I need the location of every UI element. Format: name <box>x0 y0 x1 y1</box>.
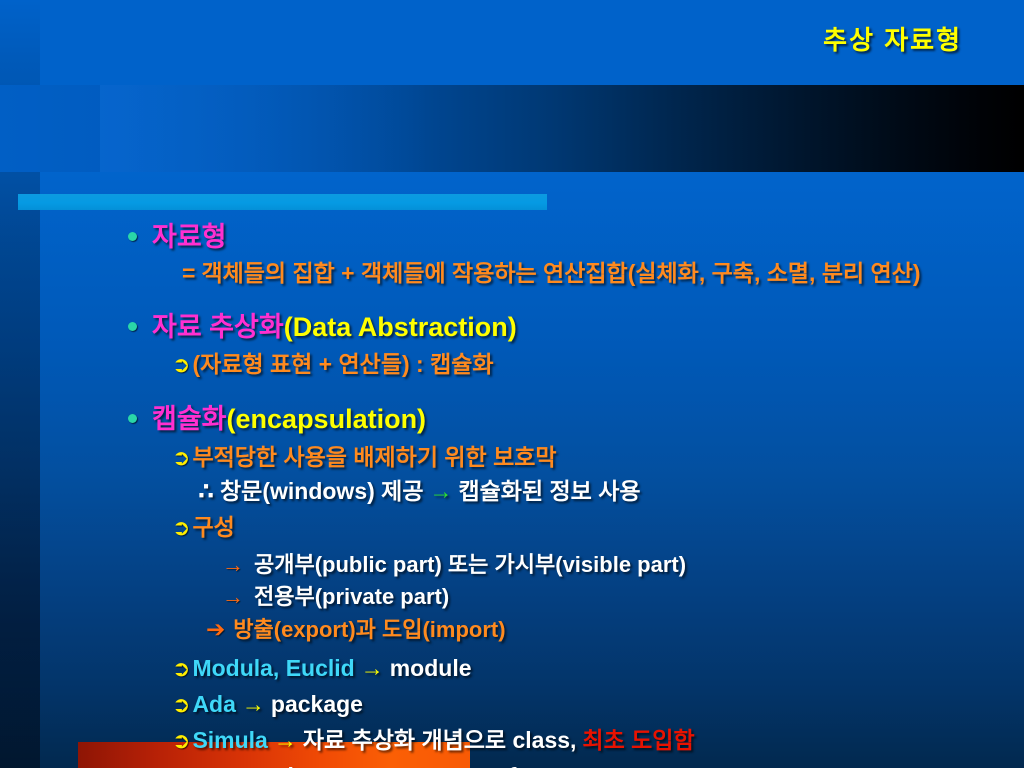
language-result-secondary: form <box>509 763 560 768</box>
crescent-arrow-bullet-icon: ➲ <box>172 726 190 756</box>
slide-canvas: 추상 자료형 자료형 =객체들의 집합 + 객체들에 작용하는 연산집합(실체화… <box>0 0 1024 768</box>
arrow-right-icon: → <box>246 763 269 768</box>
data-abstraction-label-ko: 자료 추상화 <box>152 312 284 342</box>
language-name: Ada <box>192 691 235 717</box>
bullet-item-datatype: 자료형 <box>128 220 1024 254</box>
bullet-dot-icon <box>128 322 137 331</box>
composition-item-public-text: 공개부(public part) 또는 가시부(visible part) <box>254 552 686 577</box>
header-gradient-highlight <box>100 85 430 172</box>
encapsulation-note-right: 캡슐화된 정보 사용 <box>458 478 640 504</box>
arrow-right-icon: → <box>222 552 244 577</box>
arrow-right-icon: → <box>274 727 297 753</box>
language-item-modula: ➲Modula, Euclid→module <box>172 653 1024 684</box>
encapsulation-sub-shield-line: ➲부적당한 사용을 배제하기 위한 보호막 <box>172 442 1024 473</box>
crescent-arrow-bullet-icon: ➲ <box>172 654 190 684</box>
language-name: Modula, Euclid <box>192 655 354 681</box>
encapsulation-shield-text: 부적당한 사용을 배제하기 위한 보호막 <box>192 444 556 470</box>
arrow-right-bold-icon: ➔ <box>206 616 225 642</box>
encapsulation-label-ko: 캡슐화 <box>152 404 227 434</box>
crescent-arrow-bullet-icon: ➲ <box>172 690 190 720</box>
language-name: CLU <box>192 763 239 768</box>
language-result: module <box>390 655 472 681</box>
crescent-arrow-bullet-icon: ➲ <box>172 443 190 473</box>
language-highlight: 최초 도입함 <box>582 727 694 753</box>
language-result: 자료 추상화 개념으로 class, <box>303 727 577 753</box>
data-abstraction-label-en: (Data Abstraction) <box>284 312 517 342</box>
slide-content: 자료형 =객체들의 집합 + 객체들에 작용하는 연산집합(실체화, 구축, 소… <box>0 220 1024 768</box>
crescent-arrow-bullet-icon: ➲ <box>172 513 190 543</box>
bullet-dot-icon <box>128 232 137 241</box>
language-item-ada: ➲Ada→package <box>172 689 1024 720</box>
datatype-definition-line: =객체들의 집합 + 객체들에 작용하는 연산집합(실체화, 구축, 소멸, 분… <box>182 258 1024 288</box>
datatype-definition-text: 객체들의 집합 + 객체들에 작용하는 연산집합(실체화, 구축, 소멸, 분리… <box>201 260 920 286</box>
therefore-symbol: ∴ <box>198 478 214 504</box>
arrow-right-icon-secondary: → <box>480 763 503 768</box>
arrow-right-icon: → <box>361 655 384 681</box>
language-name-secondary: ALPHARD <box>361 763 473 768</box>
encapsulation-note-line: ∴창문(windows) 제공→캡슐화된 정보 사용 <box>198 476 1024 507</box>
bullet-item-data-abstraction: 자료 추상화(Data Abstraction) <box>128 310 1024 344</box>
encapsulation-composition-heading: ➲구성 <box>172 512 1024 543</box>
arrow-right-icon: → <box>429 478 452 504</box>
bullet-item-datatype-label: 자료형 <box>152 222 227 252</box>
crescent-arrow-bullet-icon: ➲ <box>172 350 190 380</box>
language-item-simula: ➲Simula→자료 추상화 개념으로 class,최초 도입함 <box>172 725 1024 756</box>
cyan-accent-bar <box>18 194 547 210</box>
language-result: package <box>271 691 363 717</box>
composition-label: 구성 <box>192 514 234 540</box>
composition-item-public: →공개부(public part) 또는 가시부(visible part) <box>222 549 1024 581</box>
composition-item-export-import-text: 방출(export)과 도입(import) <box>233 617 505 642</box>
crescent-arrow-bullet-icon: ➲ <box>172 762 190 768</box>
data-abstraction-sub-line: ➲(자료형 표현 + 연산들) : 캡슐화 <box>172 349 1024 380</box>
data-abstraction-sub-text: (자료형 표현 + 연산들) : 캡슐화 <box>192 351 493 377</box>
equals-sign: = <box>182 260 195 286</box>
arrow-right-icon: → <box>222 584 244 609</box>
language-result: cluster, <box>275 763 356 768</box>
composition-item-private-text: 전용부(private part) <box>254 584 449 609</box>
language-item-clu: ➲CLU→cluster,ALPHARD→form <box>172 761 1024 768</box>
composition-item-private: →전용부(private part) <box>222 581 1024 613</box>
slide-title: 추상 자료형 <box>823 20 962 57</box>
arrow-right-icon: → <box>242 691 265 717</box>
bullet-item-encapsulation: 캡슐화(encapsulation) <box>128 402 1024 436</box>
bullet-dot-icon <box>128 414 137 423</box>
encapsulation-label-en: (encapsulation) <box>227 404 427 434</box>
composition-item-export-import: ➔방출(export)과 도입(import) <box>206 613 1024 646</box>
encapsulation-note-left: 창문(windows) 제공 <box>220 478 423 504</box>
language-name: Simula <box>192 727 267 753</box>
